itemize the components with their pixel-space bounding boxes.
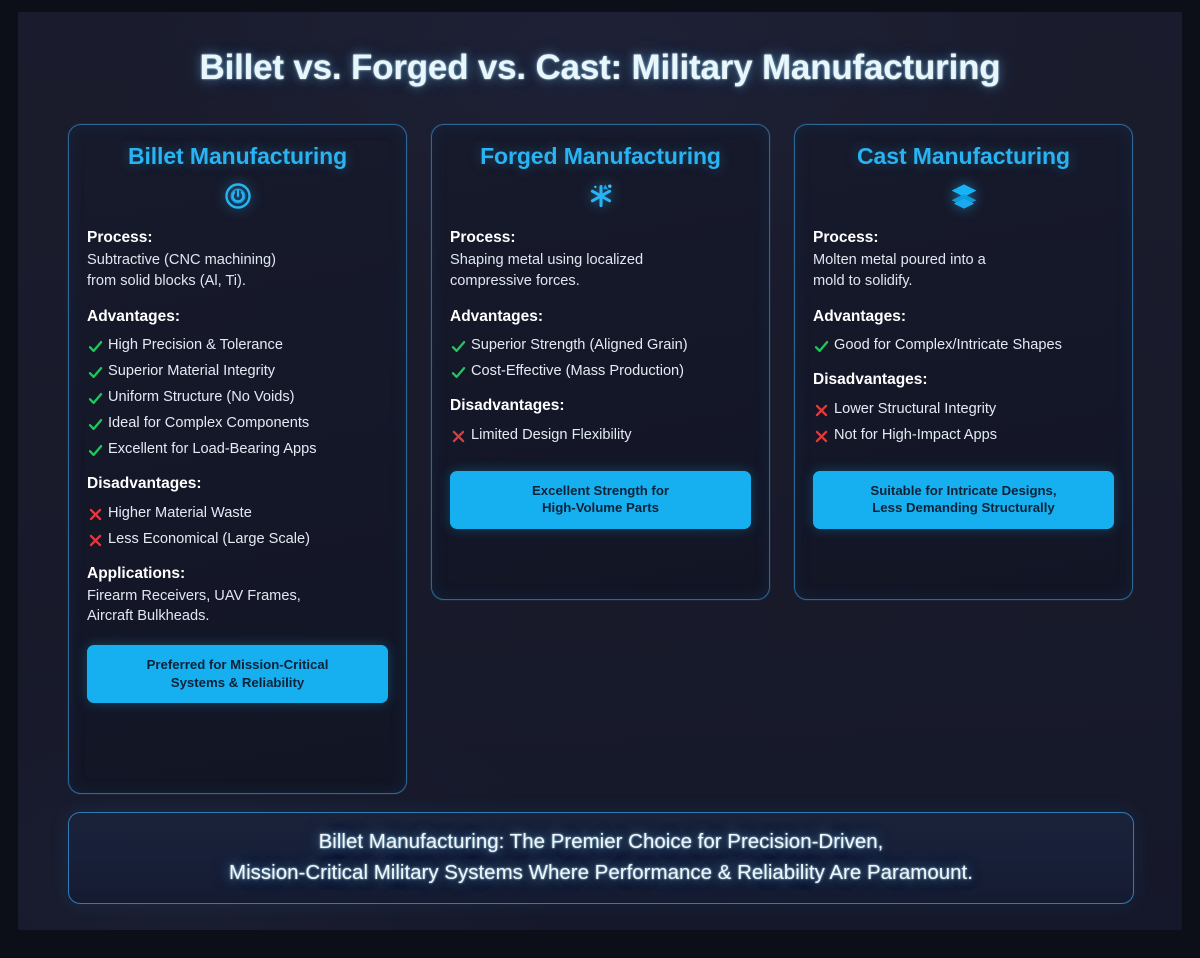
badge-line-2: Less Demanding Structurally	[823, 499, 1104, 517]
label-disadvantages: Disadvantages:	[450, 395, 751, 417]
badge-line-1: Preferred for Mission-Critical	[97, 656, 378, 674]
process-line-1: Molten metal poured into a	[813, 250, 1114, 271]
list-item-label: Ideal for Complex Components	[108, 414, 309, 432]
footer-line-2: Mission-Critical Military Systems Where …	[229, 858, 973, 889]
list-item: Lower Structural Integrity	[813, 400, 1114, 419]
card-cast[interactable]: Cast Manufacturing Process: Molten metal…	[794, 124, 1133, 600]
label-disadvantages: Disadvantages:	[87, 473, 388, 495]
advantages-list-billet: High Precision & Tolerance Superior Mate…	[87, 336, 388, 459]
list-item: High Precision & Tolerance	[87, 336, 388, 355]
check-icon	[87, 416, 104, 433]
card-billet[interactable]: Billet Manufacturing Process: Subtractiv…	[68, 124, 407, 794]
process-line-2: mold to solidify.	[813, 271, 1114, 292]
advantages-list-cast: Good for Complex/Intricate Shapes	[813, 336, 1114, 355]
badge-line-1: Suitable for Intricate Designs,	[823, 482, 1104, 500]
process-line-2: from solid blocks (Al, Ti).	[87, 271, 388, 292]
card-title-forged: Forged Manufacturing	[450, 143, 751, 169]
label-disadvantages: Disadvantages:	[813, 369, 1114, 391]
list-item-label: Higher Material Waste	[108, 504, 252, 522]
check-icon	[87, 338, 104, 355]
label-process: Process:	[813, 227, 1114, 249]
label-process: Process:	[450, 227, 751, 249]
summary-badge-forged[interactable]: Excellent Strength for High-Volume Parts	[450, 471, 751, 529]
badge-line-1: Excellent Strength for	[460, 482, 741, 500]
label-advantages: Advantages:	[813, 306, 1114, 328]
list-item: Not for High-Impact Apps	[813, 426, 1114, 445]
list-item-label: Superior Material Integrity	[108, 362, 275, 380]
cross-icon	[813, 428, 830, 445]
list-item: Higher Material Waste	[87, 504, 388, 523]
list-item-label: Less Economical (Large Scale)	[108, 530, 310, 548]
list-item-label: Superior Strength (Aligned Grain)	[471, 336, 688, 354]
list-item-label: Good for Complex/Intricate Shapes	[834, 336, 1062, 354]
check-icon	[87, 364, 104, 381]
page-title: Billet vs. Forged vs. Cast: Military Man…	[18, 48, 1182, 88]
label-advantages: Advantages:	[450, 306, 751, 328]
precision-target-icon	[87, 177, 388, 215]
applications-line-2: Aircraft Bulkheads.	[87, 606, 388, 627]
check-icon	[813, 338, 830, 355]
badge-line-2: High-Volume Parts	[460, 499, 741, 517]
list-item: Good for Complex/Intricate Shapes	[813, 336, 1114, 355]
comparison-cards-row: Billet Manufacturing Process: Subtractiv…	[68, 124, 1134, 794]
label-applications: Applications:	[87, 563, 388, 585]
infographic-stage: Billet vs. Forged vs. Cast: Military Man…	[18, 12, 1182, 930]
summary-badge-cast[interactable]: Suitable for Intricate Designs, Less Dem…	[813, 471, 1114, 529]
cross-icon	[813, 402, 830, 419]
cross-icon	[450, 428, 467, 445]
card-title-billet: Billet Manufacturing	[87, 143, 388, 169]
list-item-label: Cost-Effective (Mass Production)	[471, 362, 684, 380]
list-item: Uniform Structure (No Voids)	[87, 388, 388, 407]
card-body-cast: Process: Molten metal poured into a mold…	[813, 227, 1114, 529]
list-item-label: Uniform Structure (No Voids)	[108, 388, 295, 406]
label-advantages: Advantages:	[87, 306, 388, 328]
impact-spark-icon	[450, 177, 751, 215]
list-item: Ideal for Complex Components	[87, 414, 388, 433]
cross-icon	[87, 532, 104, 549]
card-forged[interactable]: Forged Manufacturing Process:	[431, 124, 770, 600]
summary-badge-billet[interactable]: Preferred for Mission-Critical Systems &…	[87, 645, 388, 703]
list-item: Superior Strength (Aligned Grain)	[450, 336, 751, 355]
badge-line-2: Systems & Reliability	[97, 674, 378, 692]
check-icon	[450, 338, 467, 355]
list-item: Superior Material Integrity	[87, 362, 388, 381]
disadvantages-list-cast: Lower Structural Integrity Not for High-…	[813, 400, 1114, 445]
footer-line-1: Billet Manufacturing: The Premier Choice…	[319, 827, 884, 858]
card-body-forged: Process: Shaping metal using localized c…	[450, 227, 751, 529]
applications-line-1: Firearm Receivers, UAV Frames,	[87, 586, 388, 607]
list-item: Excellent for Load-Bearing Apps	[87, 440, 388, 459]
footer-conclusion-banner: Billet Manufacturing: The Premier Choice…	[68, 812, 1134, 904]
process-line-1: Shaping metal using localized	[450, 250, 751, 271]
list-item-label: High Precision & Tolerance	[108, 336, 283, 354]
check-icon	[450, 364, 467, 381]
list-item: Less Economical (Large Scale)	[87, 530, 388, 549]
list-item: Cost-Effective (Mass Production)	[450, 362, 751, 381]
process-line-1: Subtractive (CNC machining)	[87, 250, 388, 271]
check-icon	[87, 390, 104, 407]
check-icon	[87, 442, 104, 459]
disadvantages-list-billet: Higher Material Waste Less Economical (L…	[87, 504, 388, 549]
list-item-label: Lower Structural Integrity	[834, 400, 996, 418]
layers-stack-icon	[813, 177, 1114, 215]
list-item: Limited Design Flexibility	[450, 426, 751, 445]
list-item-label: Excellent for Load-Bearing Apps	[108, 440, 317, 458]
infographic-root: Billet vs. Forged vs. Cast: Military Man…	[0, 0, 1200, 958]
cross-icon	[87, 506, 104, 523]
label-process: Process:	[87, 227, 388, 249]
disadvantages-list-forged: Limited Design Flexibility	[450, 426, 751, 445]
list-item-label: Limited Design Flexibility	[471, 426, 632, 444]
advantages-list-forged: Superior Strength (Aligned Grain) Cost-E…	[450, 336, 751, 381]
card-body-billet: Process: Subtractive (CNC machining) fro…	[87, 227, 388, 703]
card-title-cast: Cast Manufacturing	[813, 143, 1114, 169]
process-line-2: compressive forces.	[450, 271, 751, 292]
list-item-label: Not for High-Impact Apps	[834, 426, 997, 444]
